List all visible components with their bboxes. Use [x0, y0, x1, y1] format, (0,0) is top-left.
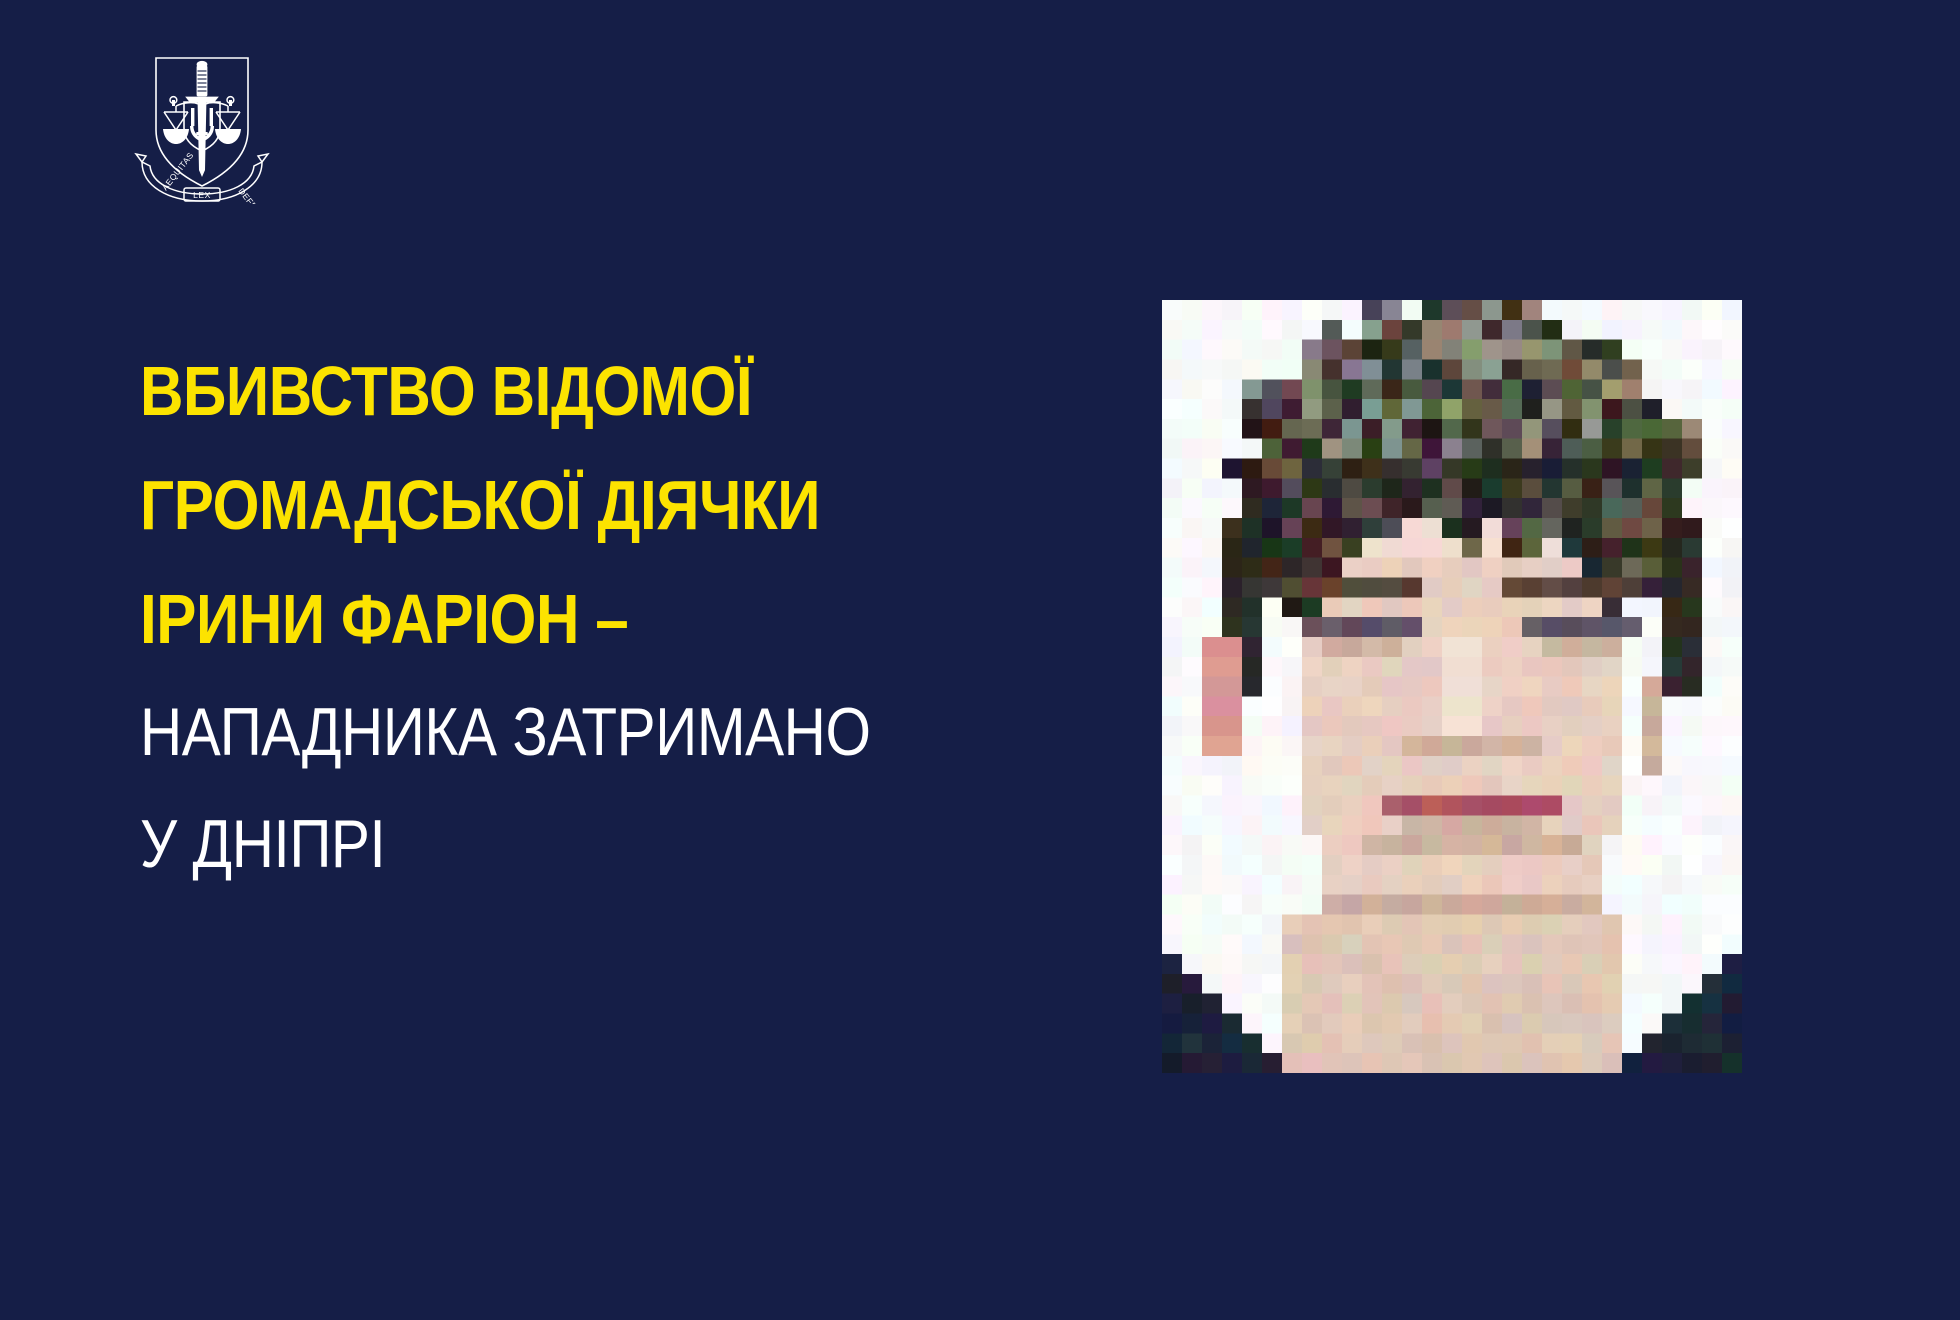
motto-center-text: LEX [193, 190, 211, 200]
headline-line-2: ГРОМАДСЬКОЇ ДІЯЧКИ [140, 470, 914, 540]
headline-line-3: ІРИНИ ФАРІОН – [140, 584, 914, 654]
headline-block: ВБИВСТВО ВІДОМОЇ ГРОМАДСЬКОЇ ДІЯЧКИ ІРИН… [140, 356, 1040, 878]
prosecutor-emblem: AEQUITAS LEX DEFENSIO [126, 44, 278, 204]
headline-line-4: НАПАДНИКА ЗАТРИМАНО [140, 698, 914, 766]
emblem-svg: AEQUITAS LEX DEFENSIO [126, 44, 278, 204]
motto-right-text: DEFENSIO [236, 186, 273, 204]
headline-line-5: У ДНІПРІ [140, 810, 914, 878]
trident-icon [190, 108, 214, 144]
poster-canvas: AEQUITAS LEX DEFENSIO ВБИВСТВО ВІДОМОЇ Г… [0, 0, 1960, 1320]
suspect-photo [1162, 300, 1742, 1073]
pixelated-portrait-canvas [1162, 300, 1742, 1073]
headline-line-1: ВБИВСТВО ВІДОМОЇ [140, 356, 914, 426]
